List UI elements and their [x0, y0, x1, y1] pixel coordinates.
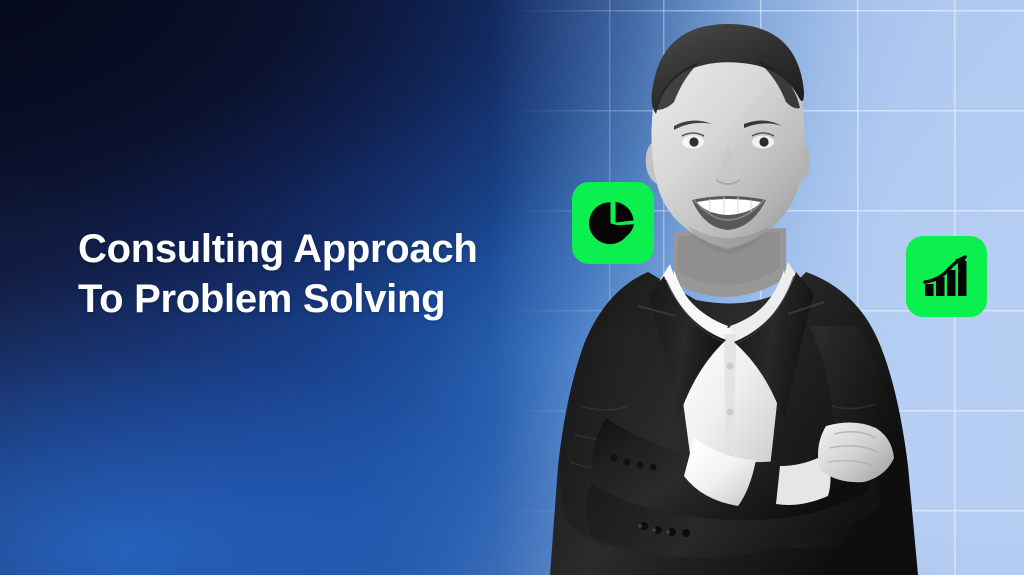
growth-chart-icon [922, 253, 972, 301]
page-title: Consulting Approach To Problem Solving [78, 224, 548, 324]
growth-chart-badge [906, 236, 987, 317]
promo-banner: Consulting Approach To Problem Solving [0, 0, 1024, 575]
headline-line-2: To Problem Solving [78, 274, 548, 324]
portrait-photo [488, 14, 968, 575]
headline-line-1: Consulting Approach [78, 224, 548, 274]
